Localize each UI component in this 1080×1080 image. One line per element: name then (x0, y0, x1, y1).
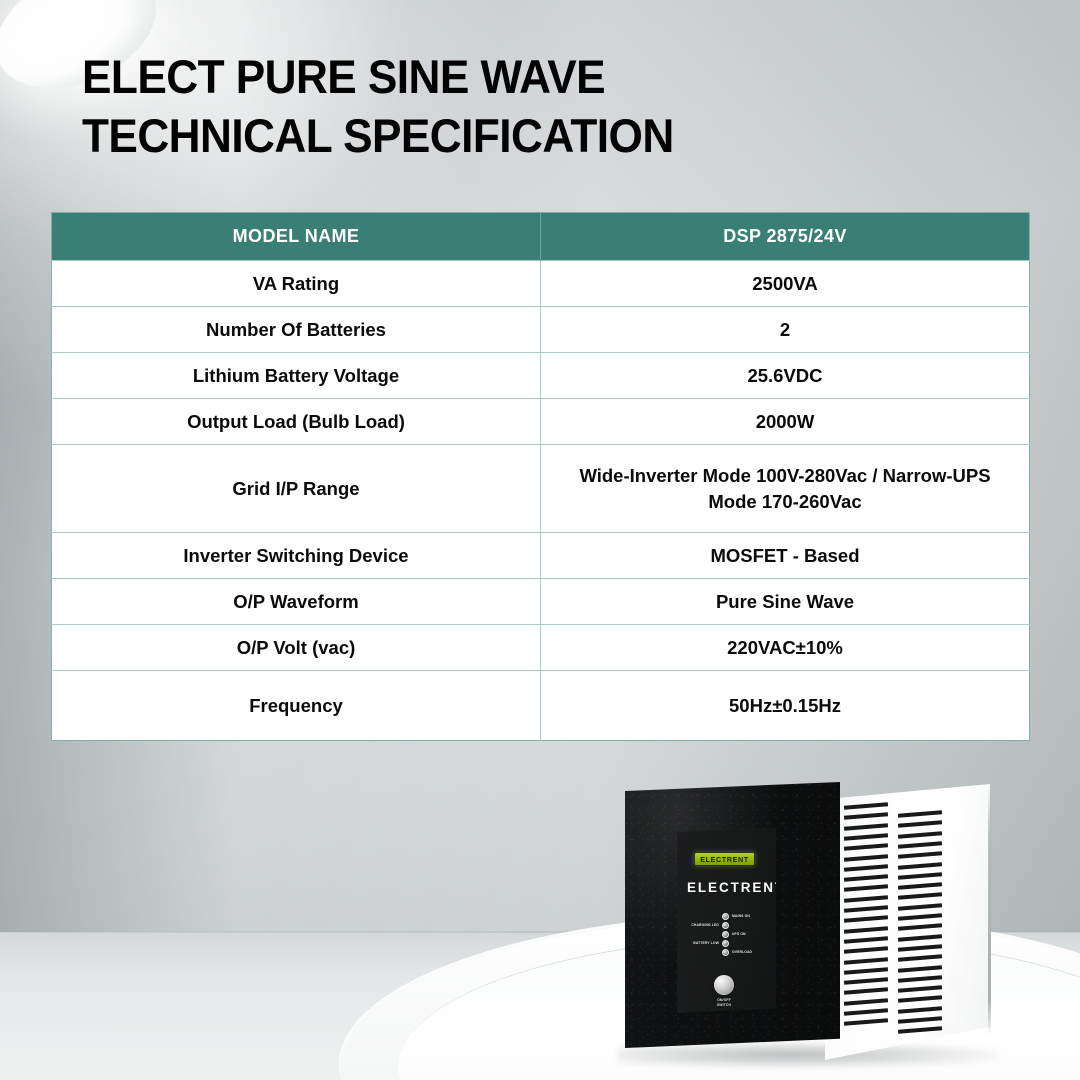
product-control-plate: ELECTRENT ELECTRENT MAINS ONCHARGING LED… (677, 828, 776, 1013)
brand-wordmark: ELECTRENT (687, 880, 767, 895)
led-indicator-label: CHARGING LED (691, 923, 719, 927)
brand-badge: ELECTRENT (694, 852, 755, 866)
led-indicator-label: UPS ON (732, 932, 746, 936)
product-ground-shadow (618, 1042, 998, 1068)
table-body: VA Rating2500VANumber Of Batteries2Lithi… (52, 261, 1030, 741)
table-header: MODEL NAME DSP 2875/24V (52, 213, 1030, 261)
table-row: Frequency50Hz±0.15Hz (52, 671, 1030, 741)
product-front-face: ELECTRENT ELECTRENT MAINS ONCHARGING LED… (625, 782, 840, 1048)
table-row: Output Load (Bulb Load)2000W (52, 399, 1030, 445)
page-title-line-2: TECHNICAL SPECIFICATION (82, 106, 909, 165)
led-indicator-icon (722, 913, 729, 920)
column-header-model-name: MODEL NAME (52, 213, 541, 261)
spec-value: 2 (541, 307, 1030, 353)
spec-label: Output Load (Bulb Load) (52, 399, 541, 445)
led-indicator-row: OVERLOAD (681, 948, 773, 956)
product-image-inverter: ELECTRENT ELECTRENT MAINS ONCHARGING LED… (600, 760, 1020, 1080)
spec-label: Frequency (52, 671, 541, 741)
spec-value: 2500VA (541, 261, 1030, 307)
table-row: O/P WaveformPure Sine Wave (52, 579, 1030, 625)
power-knob-label-line: SWITCH (717, 1003, 731, 1007)
led-indicator-icon (722, 949, 729, 956)
spec-label: VA Rating (52, 261, 541, 307)
spec-value: 2000W (541, 399, 1030, 445)
led-indicator-row: MAINS ON (681, 912, 773, 920)
spec-label: Number Of Batteries (52, 307, 541, 353)
spec-label: O/P Waveform (52, 579, 541, 625)
power-knob[interactable] (714, 975, 734, 995)
spec-value: Wide-Inverter Mode 100V-280Vac / Narrow-… (541, 445, 1030, 533)
led-indicator-label: BATTERY LOW (693, 941, 719, 945)
column-header-model-value: DSP 2875/24V (541, 213, 1030, 261)
product-side-edge (988, 785, 991, 1035)
spec-value: 50Hz±0.15Hz (541, 671, 1030, 741)
led-indicator-icon (722, 931, 729, 938)
spec-label: O/P Volt (vac) (52, 625, 541, 671)
spec-value: 25.6VDC (541, 353, 1030, 399)
led-indicator-icon (722, 922, 729, 929)
specification-table: MODEL NAME DSP 2875/24V VA Rating2500VAN… (51, 212, 1030, 741)
power-knob-label: ON/OFFSWITCH (698, 998, 750, 1008)
table-row: VA Rating2500VA (52, 261, 1030, 307)
brand-badge-label: ELECTRENT (700, 855, 749, 864)
led-indicator-icon (722, 940, 729, 947)
led-indicator-row: UPS ON (681, 930, 773, 938)
table-row: Number Of Batteries2 (52, 307, 1030, 353)
led-indicator-row: BATTERY LOW (681, 939, 773, 947)
spec-value: 220VAC±10% (541, 625, 1030, 671)
spec-label: Inverter Switching Device (52, 533, 541, 579)
spec-value: MOSFET - Based (541, 533, 1030, 579)
table-row: Lithium Battery Voltage25.6VDC (52, 353, 1030, 399)
page-title-line-1: ELECT PURE SINE WAVE (82, 47, 909, 106)
led-indicator-label: OVERLOAD (732, 950, 752, 954)
spec-label: Grid I/P Range (52, 445, 541, 533)
led-indicator-row: CHARGING LED (681, 921, 773, 929)
led-indicator-cluster: MAINS ONCHARGING LEDUPS ONBATTERY LOWOVE… (681, 912, 773, 954)
spec-label: Lithium Battery Voltage (52, 353, 541, 399)
table-row: O/P Volt (vac)220VAC±10% (52, 625, 1030, 671)
table-row: Inverter Switching DeviceMOSFET - Based (52, 533, 1030, 579)
poster-canvas: ELECT PURE SINE WAVE TECHNICAL SPECIFICA… (0, 0, 1080, 1080)
power-knob-label-line: ON/OFF (717, 998, 731, 1002)
table-row: Grid I/P RangeWide-Inverter Mode 100V-28… (52, 445, 1030, 533)
led-indicator-label: MAINS ON (732, 914, 750, 918)
table-header-row: MODEL NAME DSP 2875/24V (52, 213, 1030, 261)
page-title: ELECT PURE SINE WAVE TECHNICAL SPECIFICA… (82, 47, 909, 165)
spec-value: Pure Sine Wave (541, 579, 1030, 625)
